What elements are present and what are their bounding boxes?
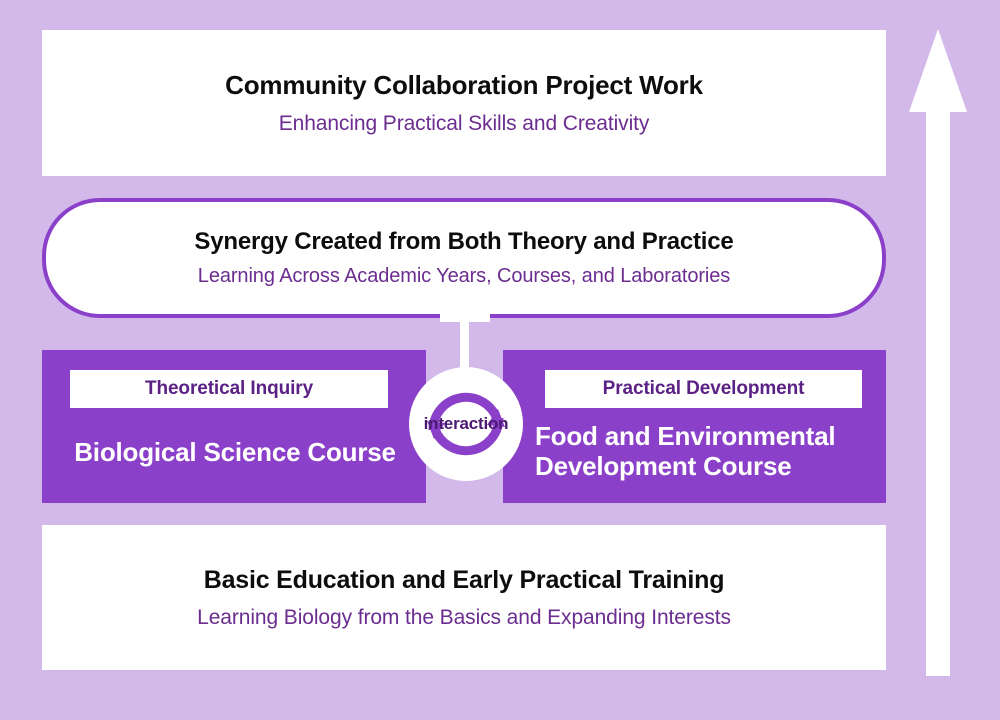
course-name-line-1: Food and Environmental — [535, 421, 835, 451]
community-collaboration-title: Community Collaboration Project Work — [225, 70, 703, 101]
course-name-line-2: Development Course — [535, 451, 791, 481]
basic-education-subtitle: Learning Biology from the Basics and Exp… — [197, 605, 731, 630]
interaction-label: interaction — [409, 367, 523, 481]
basic-education-title: Basic Education and Early Practical Trai… — [204, 565, 725, 595]
practical-development-tag: Practical Development — [545, 370, 862, 408]
synergy-title: Synergy Created from Both Theory and Pra… — [194, 228, 733, 257]
biological-science-course-name: Biological Science Course — [60, 438, 410, 468]
diagram-canvas: Community Collaboration Project Work Enh… — [0, 0, 1000, 720]
basic-education-panel: Basic Education and Early Practical Trai… — [42, 525, 886, 670]
community-collaboration-subtitle: Enhancing Practical Skills and Creativit… — [279, 111, 650, 136]
food-environmental-course-box: Practical Development Food and Environme… — [503, 350, 886, 503]
food-environmental-course-name: Food and Environmental Development Cours… — [535, 422, 880, 482]
synergy-subtitle: Learning Across Academic Years, Courses,… — [198, 264, 730, 288]
interaction-badge: interaction — [409, 367, 523, 481]
community-collaboration-panel: Community Collaboration Project Work Enh… — [42, 30, 886, 176]
up-arrow-icon — [905, 25, 971, 680]
theoretical-inquiry-tag: Theoretical Inquiry — [70, 370, 388, 408]
biological-science-course-box: Theoretical Inquiry Biological Science C… — [42, 350, 426, 503]
